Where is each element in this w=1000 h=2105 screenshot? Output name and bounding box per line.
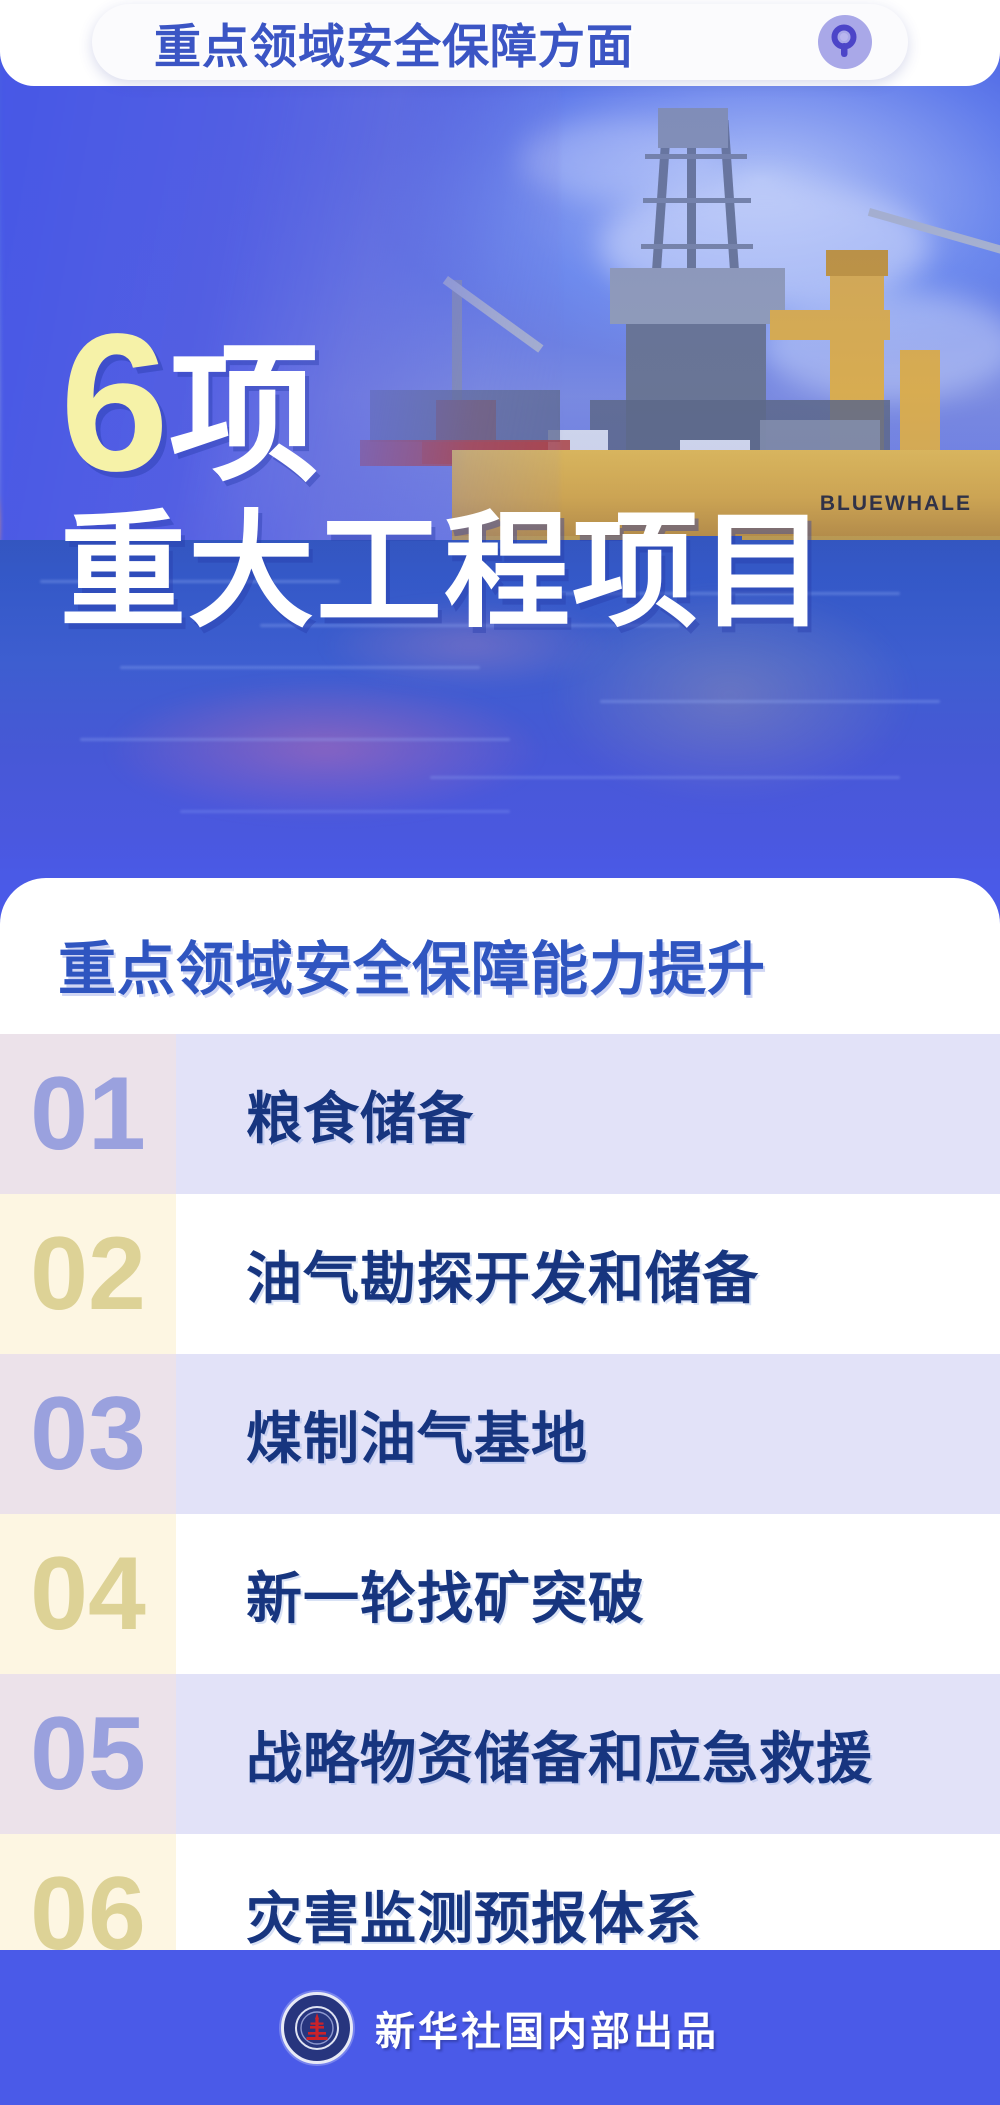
hero-headline-line1: 6 项 — [60, 310, 940, 496]
xinhua-logo-icon — [281, 1992, 353, 2064]
derrick-crown — [658, 108, 728, 148]
hero-banner: BLUEWHALE — [0, 60, 1000, 890]
header-title: 重点领域安全保障方面 — [154, 8, 634, 77]
item-number: 04 — [0, 1514, 176, 1674]
magnifier-icon — [818, 15, 872, 69]
list-item[interactable]: 02油气勘探开发和储备 — [0, 1194, 1000, 1354]
hero-title-block: 6 项 重大工程项目 — [60, 310, 940, 638]
hero-big-number: 6 — [60, 310, 165, 496]
card-heading: 重点领域安全保障能力提升 — [0, 878, 1000, 1034]
list-item[interactable]: 05战略物资储备和应急救援 — [0, 1674, 1000, 1834]
measure-list: 01粮食储备02油气勘探开发和储备03煤制油气基地04新一轮找矿突破05战略物资… — [0, 1034, 1000, 1994]
item-number: 02 — [0, 1194, 176, 1354]
footer-text: 新华社国内部出品 — [375, 1999, 719, 2057]
hero-number-unit: 项 — [169, 344, 319, 487]
item-number: 03 — [0, 1354, 176, 1514]
header-pill[interactable]: 重点领域安全保障方面 — [92, 4, 908, 80]
item-label: 新一轮找矿突破 — [176, 1514, 1000, 1674]
item-label: 战略物资储备和应急救援 — [176, 1674, 1000, 1834]
list-item[interactable]: 04新一轮找矿突破 — [0, 1514, 1000, 1674]
item-number: 05 — [0, 1674, 176, 1834]
item-number: 01 — [0, 1034, 176, 1194]
footer-bar: 新华社国内部出品 — [0, 1950, 1000, 2105]
content-card: 重点领域安全保障能力提升 01粮食储备02油气勘探开发和储备03煤制油气基地04… — [0, 878, 1000, 1994]
item-label: 粮食储备 — [176, 1034, 1000, 1194]
item-label: 油气勘探开发和储备 — [176, 1194, 1000, 1354]
water-pink-reflection — [110, 680, 540, 820]
infographic-poster: 重点领域安全保障方面 — [0, 0, 1000, 2105]
list-item[interactable]: 01粮食储备 — [0, 1034, 1000, 1194]
list-item[interactable]: 03煤制油气基地 — [0, 1354, 1000, 1514]
hero-subtitle: 重大工程项目 — [60, 506, 940, 638]
item-label: 煤制油气基地 — [176, 1354, 1000, 1514]
